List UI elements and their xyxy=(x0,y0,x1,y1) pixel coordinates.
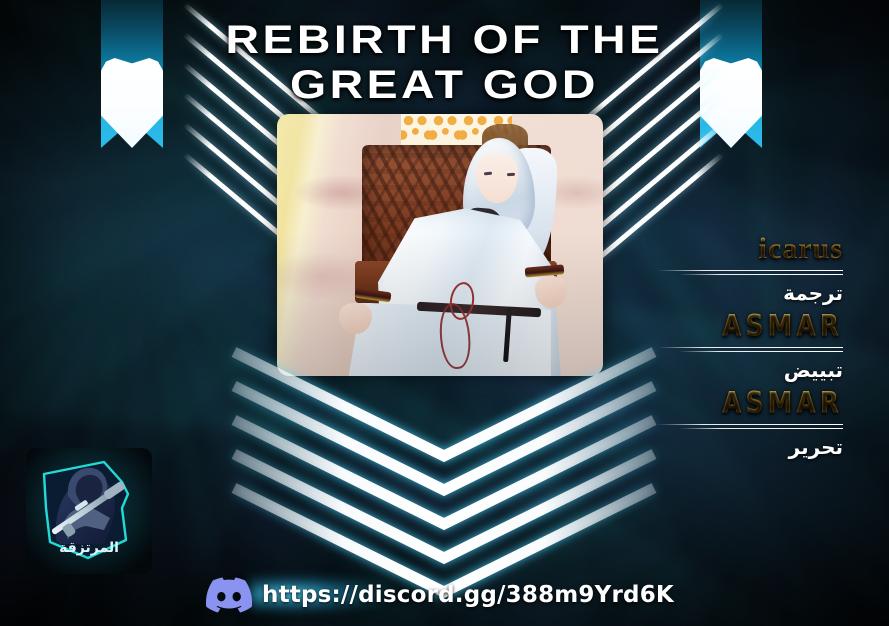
cover-artwork xyxy=(277,114,603,376)
credit-name: icarus xyxy=(657,232,843,266)
credit-name: ASMAR xyxy=(657,306,843,346)
title-card: REBIRTH OF THE GREAT GOD xyxy=(0,0,889,626)
team-logo: المرتزقة xyxy=(26,448,152,574)
credit-role: تبييض xyxy=(657,357,843,383)
discord-invite[interactable]: https://discord.gg/388m9Yrd6K xyxy=(206,573,674,617)
artwork-tone-grade xyxy=(277,114,603,376)
credits-list: icarus ترجمة ASMAR تبييض ASMAR تحرير xyxy=(657,232,843,463)
logo-caption: المرتزقة xyxy=(59,540,119,556)
banner-left xyxy=(101,0,163,148)
credit-divider xyxy=(657,269,843,278)
credit-role: تحرير xyxy=(657,434,843,460)
credit-name: ASMAR xyxy=(657,383,843,423)
credit-entry: ASMAR تحرير xyxy=(657,386,843,460)
banner-right xyxy=(700,0,762,148)
discord-url-text[interactable]: https://discord.gg/388m9Yrd6K xyxy=(262,582,674,608)
credit-entry: icarus ترجمة xyxy=(657,232,843,306)
credit-divider xyxy=(657,346,843,355)
credit-divider xyxy=(657,423,843,432)
credit-role: ترجمة xyxy=(657,280,843,306)
discord-icon xyxy=(206,577,252,613)
credit-entry: ASMAR تبييض xyxy=(657,309,843,383)
